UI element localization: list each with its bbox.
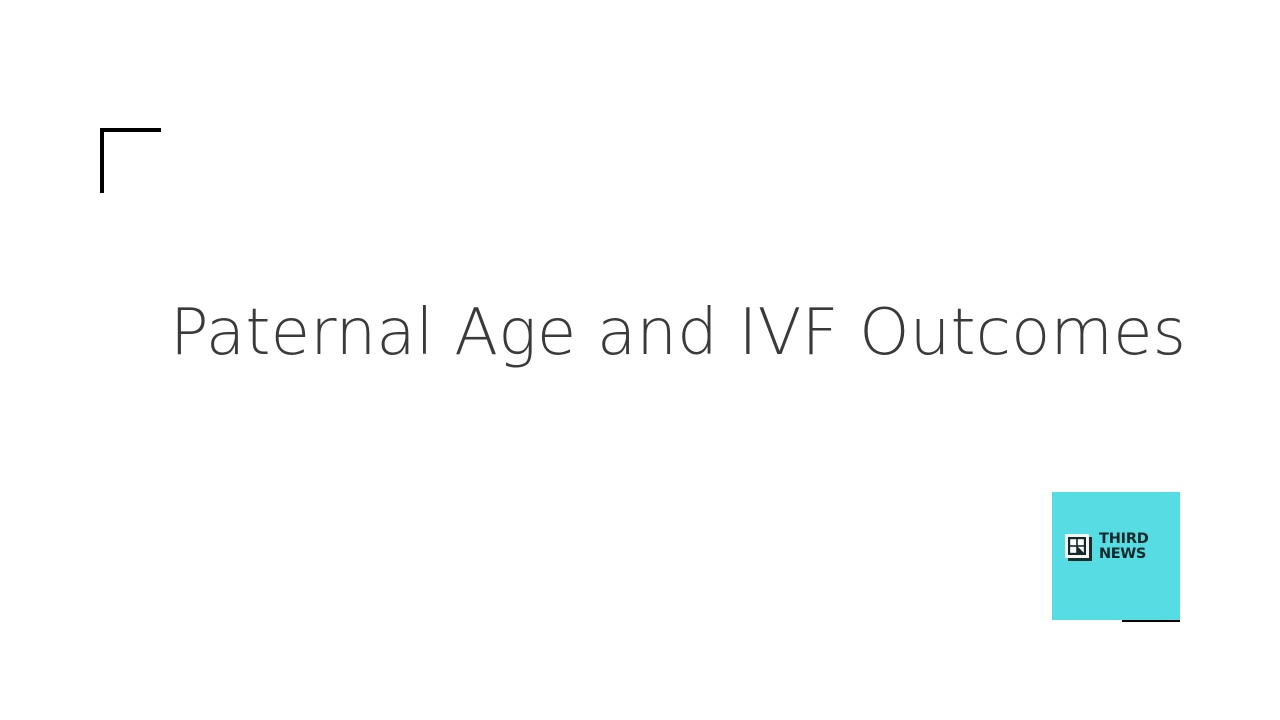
page-title: Paternal Age and IVF Outcomes bbox=[170, 296, 1130, 372]
brand-logo-lockup: THIRD NEWS bbox=[1065, 532, 1149, 562]
brand-wordmark: THIRD NEWS bbox=[1099, 532, 1149, 562]
brand-wordmark-line-2: NEWS bbox=[1099, 547, 1149, 562]
brand-logo-tile: THIRD NEWS bbox=[1052, 492, 1180, 620]
brand-wordmark-line-1: THIRD bbox=[1099, 532, 1149, 547]
logo-area: THIRD NEWS bbox=[1052, 492, 1242, 632]
presentation-slide: Paternal Age and IVF Outcomes bbox=[0, 0, 1280, 720]
top-left-corner-bracket-decoration bbox=[100, 128, 161, 193]
window-pane-icon bbox=[1065, 534, 1092, 561]
title-block: Paternal Age and IVF Outcomes bbox=[170, 296, 1130, 372]
